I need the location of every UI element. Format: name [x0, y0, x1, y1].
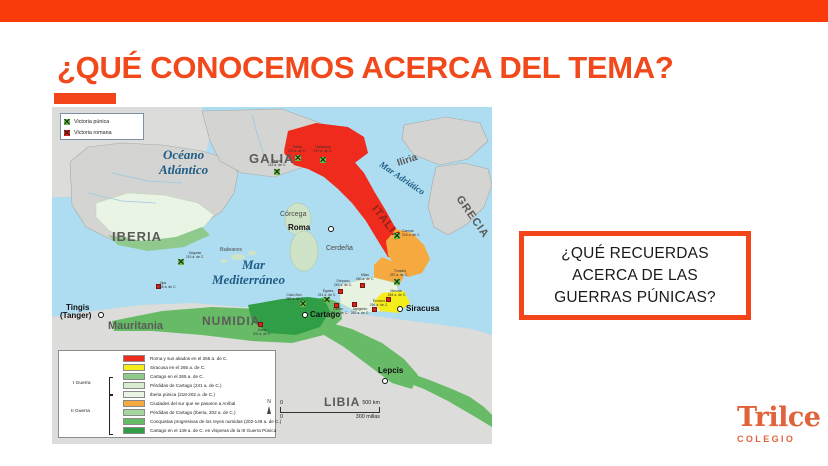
scale-zero-bottom: 0	[280, 414, 283, 420]
legend-swatch	[123, 355, 145, 362]
city-label: Lepcis	[378, 366, 403, 375]
battle-marker-roman	[372, 307, 377, 312]
battle-marker-roman	[360, 283, 365, 288]
map-sea-label: Atlántico	[159, 162, 208, 178]
battle-date: 264 a. de C.	[380, 293, 414, 297]
victory-legend-row: Victoria púnica	[64, 116, 140, 127]
battle-date: 206 a. de C.	[158, 285, 190, 289]
legend-label: Iberia púnica (218-202 a. de C.)	[150, 392, 215, 397]
legend-label: Roma y sus aliados en el 265 a. de C.	[150, 356, 228, 361]
city-marker	[382, 378, 388, 384]
scale-zero-top: 0	[280, 400, 283, 406]
legend-brace	[109, 395, 113, 435]
city-label: (Tanger)	[60, 311, 91, 320]
legend-label: Siracusa en el 265 a. de C.	[150, 365, 205, 370]
legend-swatch	[123, 373, 145, 380]
city-marker	[397, 306, 403, 312]
legend-group-label-second: II Guerra	[71, 409, 90, 414]
question-line-2: ACERCA DE LAS	[572, 265, 698, 287]
legend-label: Pérdidas de Cartago (Iberia, 202 a. de C…	[150, 410, 236, 415]
slide-root: ¿QUÉ CONOCEMOS ACERCA DEL TEMA?	[0, 0, 828, 466]
question-line-1: ¿QUÉ RECUERDAS	[561, 243, 708, 265]
legend-swatch	[123, 427, 145, 434]
victory-legend-label: Victoria romana	[74, 130, 112, 136]
battle-marker-punic	[178, 259, 184, 265]
legend-group-label-first: I Guerra	[73, 381, 91, 386]
logo-subtitle: COLEGIO	[737, 434, 821, 444]
battle-marker-roman	[258, 322, 263, 327]
map-scale-bar: 0 500 km 0 300 millas	[280, 400, 380, 420]
city-marker	[302, 312, 308, 318]
legend-label: Ciudades del sur que se pasaron a Aníbal	[150, 401, 235, 406]
north-arrow-icon: N	[267, 399, 271, 414]
map-legend: I Guerra II Guerra Roma y sus aliados en…	[58, 350, 276, 438]
legend-row: Iberia púnica (218-202 a. de C.)	[123, 390, 273, 399]
map-sea-label: Mediterráneo	[212, 272, 285, 288]
map-sea-label: Océano	[163, 147, 204, 163]
battle-date: 257 a. de C.	[382, 273, 416, 277]
battle-date: 241 a. de C.	[310, 293, 344, 297]
battle-date: 219 a. de C.	[178, 255, 212, 259]
victory-legend-row: Victoria romana	[64, 127, 140, 138]
map-victory-legend: Victoria púnica Victoria romana	[60, 113, 144, 140]
legend-row: Cartago en el 149 a. de C. en vísperas d…	[123, 426, 273, 435]
legend-swatch	[123, 364, 145, 371]
city-marker	[328, 226, 334, 232]
legend-row: Siracusa en el 265 a. de C.	[123, 363, 273, 372]
battle-marker-punic	[295, 155, 301, 161]
legend-label: Cartago en el 265 a. de C.	[150, 374, 204, 379]
green-x-marker-icon	[64, 119, 70, 125]
legend-row: Pérdidas de Cartago (Iberia, 202 a. de C…	[123, 408, 273, 417]
battle-marker-punic	[394, 233, 400, 239]
title-underline-accent	[54, 93, 116, 104]
city-label: Siracusa	[406, 304, 439, 313]
question-line-3: GUERRAS PÚNICAS?	[554, 287, 716, 309]
top-accent-bar	[0, 0, 828, 22]
battle-marker-punic	[394, 279, 400, 285]
legend-swatch	[123, 409, 145, 416]
battle-date: 256 a. de C.	[362, 303, 396, 307]
battle-marker-punic	[300, 301, 306, 307]
legend-label: Cartago en el 149 a. de C. en vísperas d…	[150, 428, 276, 433]
legend-swatch	[123, 418, 145, 425]
legend-swatch	[123, 400, 145, 407]
battle-marker-punic	[324, 297, 330, 303]
legend-brace	[109, 377, 113, 395]
legend-row: Roma y sus aliados en el 265 a. de C.	[123, 354, 273, 363]
legend-swatch	[123, 382, 145, 389]
legend-row: Conquistas progresivas de los reyes numi…	[123, 417, 273, 426]
battle-marker-punic	[320, 157, 326, 163]
legend-row: Ciudades del sur que se pasaron a Aníbal	[123, 399, 273, 408]
legend-label: Pérdidas de Cartago (241 a. de C.)	[150, 383, 222, 388]
victory-legend-label: Victoria púnica	[74, 119, 109, 125]
legend-row: Cartago en el 265 a. de C.	[123, 372, 273, 381]
legend-row: Pérdidas de Cartago (241 a. de C.)	[123, 381, 273, 390]
page-title: ¿QUÉ CONOCEMOS ACERCA DEL TEMA?	[57, 50, 673, 86]
trilce-logo: Trilce COLEGIO	[737, 404, 821, 452]
scale-km: 500 km	[362, 400, 380, 406]
battle-date: 218 a. de C.	[262, 163, 292, 167]
question-callout-box: ¿QUÉ RECUERDAS ACERCA DE LAS GUERRAS PÚN…	[519, 231, 751, 320]
red-x-marker-icon	[64, 130, 70, 136]
battle-date: 216 a. de C.	[402, 233, 436, 237]
battle-date: 249 a. de C.	[326, 283, 360, 287]
battle-date: 202 a. de C.	[244, 332, 280, 336]
battle-date: 217 a. de C.	[306, 149, 340, 153]
logo-wordmark: Trilce	[737, 404, 821, 432]
punic-wars-map[interactable]: GALIA IBERIA Mauritania NUMIDIA LIBIA Il…	[52, 107, 492, 444]
city-label: Roma	[288, 223, 310, 232]
city-marker	[98, 312, 104, 318]
legend-label: Conquistas progresivas de los reyes numi…	[150, 419, 281, 424]
legend-swatch	[123, 391, 145, 398]
scale-miles: 300 millas	[356, 414, 380, 420]
map-sea-label: Mar	[242, 257, 265, 273]
battle-marker-punic	[274, 169, 280, 175]
battle-date: 255 a. de C.	[276, 297, 314, 301]
north-label: N	[267, 399, 271, 405]
